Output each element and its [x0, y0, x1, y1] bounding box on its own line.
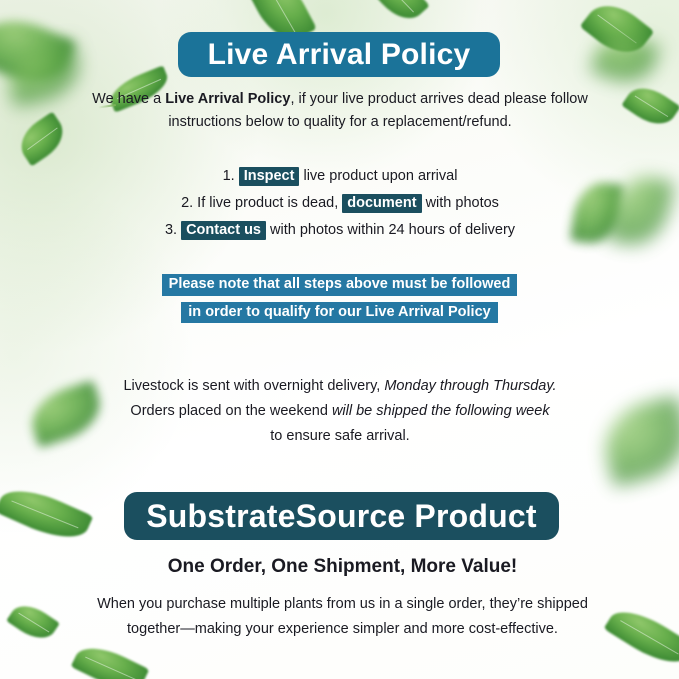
leaf-right-upper-icon: [621, 79, 679, 133]
leaf-top-center-b-icon: [368, 0, 429, 28]
substratesource-body-paragraph: When you purchase multiple plants from u…: [85, 592, 600, 642]
leaf-mid-left-small-icon: [13, 111, 72, 166]
substratesource-tagline: One Order, One Shipment, More Value!: [85, 555, 600, 580]
intro-text-before-bold: We have a: [92, 91, 165, 107]
step-3-number: 3.: [165, 222, 177, 238]
step-3-text-after: with photos within 24 hours of delivery: [266, 222, 515, 238]
leaf-right-mid-blur-icon: [605, 171, 674, 251]
step-2-text-before: If live product is dead,: [193, 195, 342, 211]
callout-line-1: Please note that all steps above must be…: [162, 274, 518, 296]
shipping-line-2-italic: will be shipped the following week: [332, 403, 550, 419]
intro-bold-phrase: Live Arrival Policy: [165, 91, 290, 107]
leaf-right-upper-soft-blur-icon: [590, 27, 660, 90]
shipping-line-2-plain: Orders placed on the weekend: [130, 403, 332, 419]
livestock-shipping-note: Livestock is sent with overnight deliver…: [95, 374, 585, 449]
live-arrival-policy-banner: Live Arrival Policy: [178, 32, 500, 77]
leaf-bottom-left-icon: [71, 638, 150, 679]
bundle-line-2: together—making your experience simpler …: [127, 621, 558, 637]
step-1-number: 1.: [223, 168, 235, 184]
live-arrival-policy-infographic: Live Arrival Policy We have a Live Arriv…: [0, 0, 679, 679]
step-1-highlight-inspect: Inspect: [239, 167, 300, 186]
list-item: 3. Contact us with photos within 24 hour…: [100, 217, 580, 244]
step-2-number: 2.: [181, 195, 193, 211]
bundle-line-1: When you purchase multiple plants from u…: [97, 596, 588, 612]
live-arrival-intro-paragraph: We have a Live Arrival Policy, if your l…: [70, 88, 610, 135]
leaf-left-small-lower-icon: [6, 598, 60, 647]
step-1-text-after: live product upon arrival: [299, 168, 457, 184]
list-item: 1. Inspect live product upon arrival: [100, 163, 580, 190]
leaf-left-long-icon: [0, 479, 93, 549]
step-2-highlight-document: document: [342, 194, 421, 213]
tagline-text: One Order, One Shipment, More Value!: [168, 556, 517, 577]
live-arrival-callout: Please note that all steps above must be…: [0, 274, 679, 329]
leaf-right-lower-blur-icon: [596, 395, 679, 487]
list-item: 2. If live product is dead, document wit…: [100, 190, 580, 217]
substratesource-product-banner-title: SubstrateSource Product: [146, 498, 536, 535]
step-2-text-after: with photos: [422, 195, 499, 211]
intro-text-after-bold: , if your live product arrives dead plea…: [290, 91, 587, 107]
leaf-top-left-blur-icon: [0, 6, 76, 96]
leaf-top-right-icon: [580, 0, 655, 65]
intro-line-2: instructions below to quality for a repl…: [168, 114, 511, 130]
leaf-bottom-right-icon: [604, 600, 679, 674]
substratesource-product-banner: SubstrateSource Product: [124, 492, 559, 540]
shipping-line-3: to ensure safe arrival.: [270, 428, 409, 444]
live-arrival-steps-list: 1. Inspect live product upon arrival 2. …: [100, 163, 580, 243]
live-arrival-policy-banner-title: Live Arrival Policy: [208, 38, 471, 72]
step-3-highlight-contact-us: Contact us: [181, 221, 266, 240]
callout-line-2: in order to qualify for our Live Arrival…: [181, 302, 497, 324]
shipping-line-1-italic: Monday through Thursday.: [384, 378, 556, 394]
shipping-line-1-plain: Livestock is sent with overnight deliver…: [123, 378, 384, 394]
